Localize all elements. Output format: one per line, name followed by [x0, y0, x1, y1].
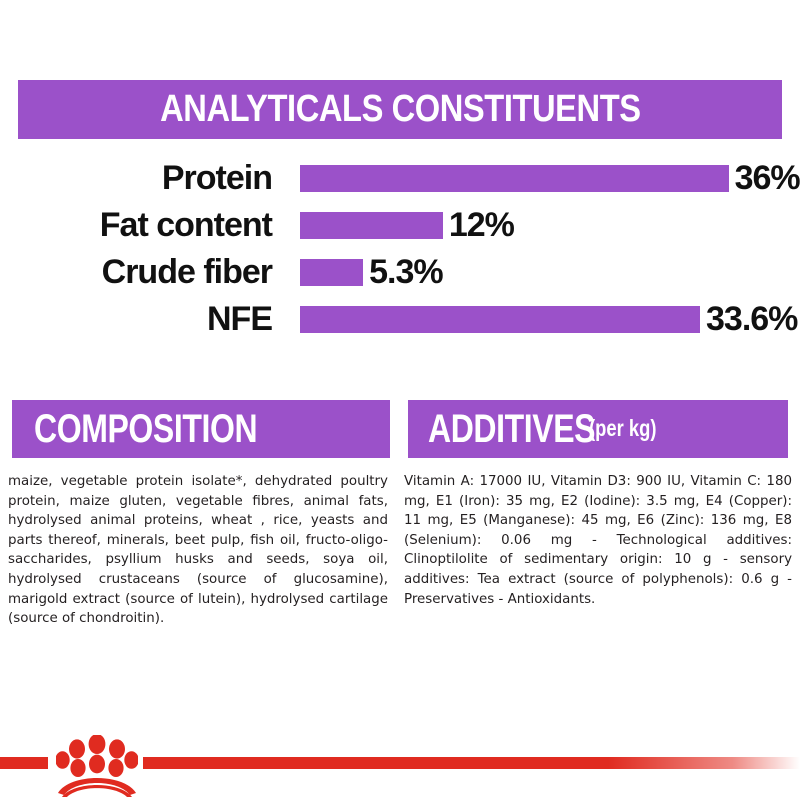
bar-fill-crude-fiber: [300, 259, 363, 286]
bar-label-fat-content: Fat content: [0, 206, 272, 245]
bar-row-protein: Protein 36%: [0, 155, 800, 202]
bar-row-crude-fiber: Crude fiber 5.3%: [0, 249, 800, 296]
bar-label-nfe: NFE: [0, 300, 272, 339]
bar-row-nfe: NFE 33.6%: [0, 296, 800, 343]
bar-track-protein: 36%: [300, 155, 800, 202]
additives-text: Vitamin A: 17000 IU, Vitamin D3: 900 IU,…: [404, 472, 792, 609]
bar-value-nfe: 33.6%: [706, 300, 797, 339]
additives-banner: ADDITIVES (per kg): [408, 400, 788, 458]
bar-row-fat-content: Fat content 12%: [0, 202, 800, 249]
bar-value-fat-content: 12%: [449, 206, 514, 245]
bar-fill-nfe: [300, 306, 700, 333]
analyticals-heading: ANALYTICALS CONSTITUENTS: [160, 88, 641, 131]
bar-fill-fat-content: [300, 212, 443, 239]
footer-rule-left: [0, 757, 48, 769]
analyticals-bar-chart: Protein 36% Fat content 12% Crude fiber …: [0, 155, 800, 360]
footer-rule-right: [143, 757, 800, 769]
bar-label-crude-fiber: Crude fiber: [0, 253, 272, 292]
bar-track-crude-fiber: 5.3%: [300, 249, 800, 296]
bar-value-protein: 36%: [735, 159, 800, 198]
bar-label-protein: Protein: [0, 159, 272, 198]
brand-footer: [0, 735, 800, 800]
analyticals-constituents-banner: ANALYTICALS CONSTITUENTS: [18, 80, 782, 139]
nutrition-panel: ANALYTICALS CONSTITUENTS Protein 36% Fat…: [0, 0, 800, 800]
additives-subheading: (per kg): [589, 415, 656, 444]
composition-banner: COMPOSITION: [12, 400, 390, 458]
bar-value-crude-fiber: 5.3%: [369, 253, 443, 292]
royal-canin-crown-icon: [56, 735, 138, 797]
bar-track-fat-content: 12%: [300, 202, 800, 249]
bar-fill-protein: [300, 165, 729, 192]
additives-heading: ADDITIVES: [428, 407, 595, 452]
composition-text: maize, vegetable protein isolate*, dehyd…: [8, 472, 388, 629]
bar-track-nfe: 33.6%: [300, 296, 800, 343]
composition-heading: COMPOSITION: [34, 407, 257, 452]
